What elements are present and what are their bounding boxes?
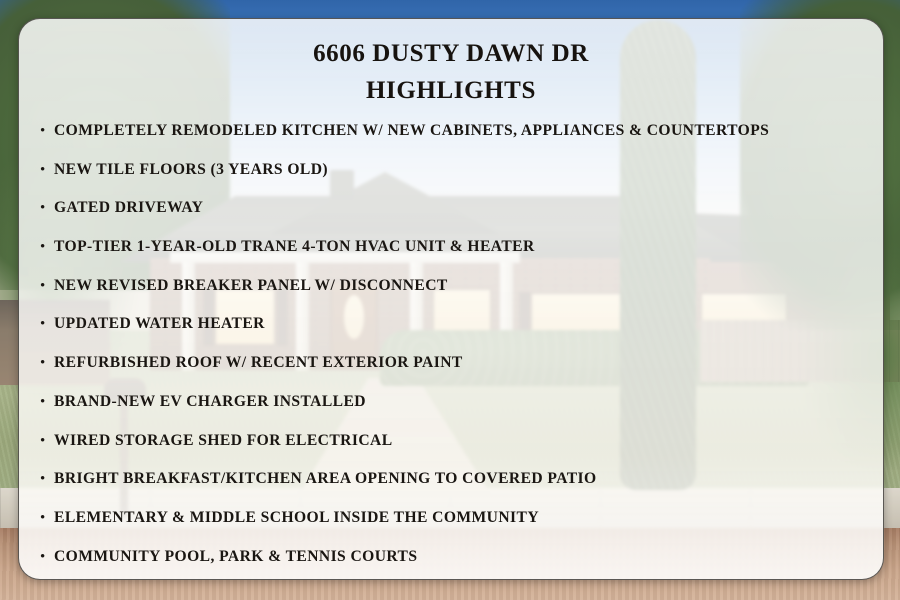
list-item-label: BRIGHT BREAKFAST/KITCHEN AREA OPENING TO… xyxy=(54,470,597,488)
list-item: • BRAND-NEW EV CHARGER INSTALLED xyxy=(40,393,883,432)
list-item: • REFURBISHED ROOF W/ RECENT EXTERIOR PA… xyxy=(40,354,883,393)
page-title-line-1: 6606 DUSTY DAWN DR xyxy=(19,35,883,72)
bullet-point-icon: • xyxy=(40,124,54,139)
bullet-point-icon: • xyxy=(40,434,54,449)
list-item-label: REFURBISHED ROOF W/ RECENT EXTERIOR PAIN… xyxy=(54,354,463,372)
list-item: • NEW TILE FLOORS (3 YEARS OLD) xyxy=(40,161,883,200)
card-title-block: 6606 DUSTY DAWN DR HIGHLIGHTS xyxy=(19,19,883,109)
list-item: • ELEMENTARY & MIDDLE SCHOOL INSIDE THE … xyxy=(40,509,883,548)
bullet-point-icon: • xyxy=(40,279,54,294)
highlights-list: • COMPLETELY REMODELED KITCHEN W/ NEW CA… xyxy=(19,122,883,580)
bullet-point-icon: • xyxy=(40,356,54,371)
list-item: • UPDATED WATER HEATER xyxy=(40,315,883,354)
list-item-label: TOP-TIER 1-YEAR-OLD TRANE 4-TON HVAC UNI… xyxy=(54,238,535,256)
list-item-label: ELEMENTARY & MIDDLE SCHOOL INSIDE THE CO… xyxy=(54,509,539,527)
bullet-point-icon: • xyxy=(40,201,54,216)
list-item-label: BRAND-NEW EV CHARGER INSTALLED xyxy=(54,393,366,411)
bullet-point-icon: • xyxy=(40,550,54,565)
highlights-card: 6606 DUSTY DAWN DR HIGHLIGHTS • COMPLETE… xyxy=(18,18,884,580)
list-item: • GATED DRIVEWAY xyxy=(40,199,883,238)
list-item-label: WIRED STORAGE SHED FOR ELECTRICAL xyxy=(54,432,393,450)
bullet-point-icon: • xyxy=(40,317,54,332)
list-item: • BRIGHT BREAKFAST/KITCHEN AREA OPENING … xyxy=(40,470,883,509)
list-item-label: UPDATED WATER HEATER xyxy=(54,315,265,333)
list-item: • COMPLETELY REMODELED KITCHEN W/ NEW CA… xyxy=(40,122,883,161)
bullet-point-icon: • xyxy=(40,511,54,526)
list-item: • TOP-TIER 1-YEAR-OLD TRANE 4-TON HVAC U… xyxy=(40,238,883,277)
list-item-label: COMMUNITY POOL, PARK & TENNIS COURTS xyxy=(54,548,417,566)
list-item-label: NEW REVISED BREAKER PANEL W/ DISCONNECT xyxy=(54,277,448,295)
list-item-label: COMPLETELY REMODELED KITCHEN W/ NEW CABI… xyxy=(54,122,769,140)
list-item: • WIRED STORAGE SHED FOR ELECTRICAL xyxy=(40,432,883,471)
bullet-point-icon: • xyxy=(40,395,54,410)
page-title-line-2: HIGHLIGHTS xyxy=(19,72,883,109)
list-item: • COMMUNITY POOL, PARK & TENNIS COURTS xyxy=(40,548,883,580)
bullet-point-icon: • xyxy=(40,240,54,255)
list-item: • NEW REVISED BREAKER PANEL W/ DISCONNEC… xyxy=(40,277,883,316)
bullet-point-icon: • xyxy=(40,163,54,178)
bullet-point-icon: • xyxy=(40,472,54,487)
list-item-label: GATED DRIVEWAY xyxy=(54,199,203,217)
list-item-label: NEW TILE FLOORS (3 YEARS OLD) xyxy=(54,161,328,179)
